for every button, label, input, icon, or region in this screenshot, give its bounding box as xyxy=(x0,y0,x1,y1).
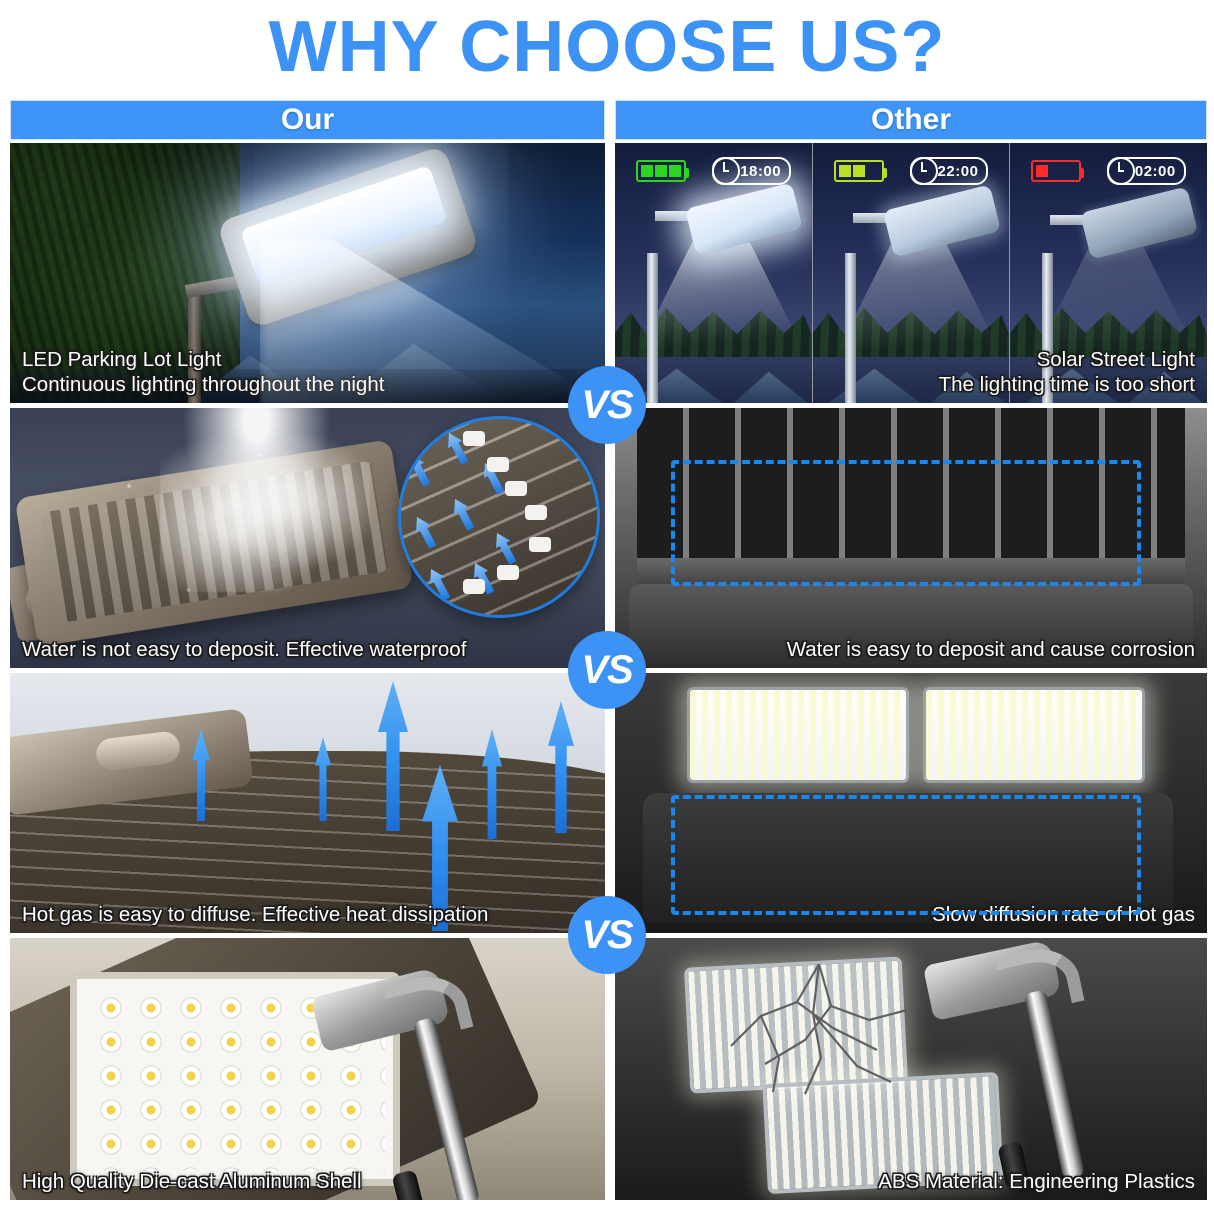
clock-dial-icon xyxy=(1107,157,1135,185)
vs-badge-3: VS xyxy=(568,896,646,974)
infographic-page: WHY CHOOSE US? Our Other LED Parking Lot… xyxy=(0,0,1214,1214)
panel-our-heat-dissipation: Hot gas is easy to diffuse. Effective he… xyxy=(10,673,605,933)
panel-other-slow-diffusion: Slow diffusion rate of hot gas xyxy=(615,673,1207,933)
caption-line-1: ABS Material: Engineering Plastics xyxy=(878,1170,1195,1193)
battery-icon-half xyxy=(834,160,884,182)
column-header-our: Our xyxy=(10,100,605,140)
caption-line-2: The lighting time is too short xyxy=(627,372,1195,397)
caption-line-1: Hot gas is easy to diffuse. Effective he… xyxy=(22,903,488,926)
clock-dial-icon xyxy=(910,157,938,185)
led-module-left xyxy=(687,687,909,783)
caption-other-corrosion: Water is easy to deposit and cause corro… xyxy=(615,637,1207,662)
time-label-1: 18:00 xyxy=(740,163,781,180)
page-title: WHY CHOOSE US? xyxy=(0,6,1214,88)
caption-line-1: LED Parking Lot Light xyxy=(22,348,221,371)
caption-line-1: High Quality Die-cast Aluminum Shell xyxy=(22,1170,362,1193)
panel-other-abs-plastic: ABS Material: Engineering Plastics xyxy=(615,938,1207,1200)
clock-dial-icon xyxy=(712,157,740,185)
clock-icon-time-3: 02:00 xyxy=(1107,157,1186,185)
caption-our-heat-dissipation: Hot gas is easy to diffuse. Effective he… xyxy=(10,902,605,927)
led-module-right xyxy=(923,687,1145,783)
panel-our-lighting-duration: LED Parking Lot Light Continuous lightin… xyxy=(10,143,605,403)
caption-line-1: Water is not easy to deposit. Effective … xyxy=(22,638,466,661)
clock-icon-time-2: 22:00 xyxy=(910,157,989,185)
status-group-2: 22:00 xyxy=(834,157,989,185)
column-header-our-label: Our xyxy=(281,103,334,137)
highlight-dashed-box xyxy=(671,460,1141,586)
caption-other-abs-plastic: ABS Material: Engineering Plastics xyxy=(615,1169,1207,1194)
column-header-other-label: Other xyxy=(871,103,951,137)
panel-our-waterproof: Water is not easy to deposit. Effective … xyxy=(10,408,605,668)
caption-line-1: Solar Street Light xyxy=(1037,348,1195,371)
vs-badge-1: VS xyxy=(568,366,646,444)
status-group-3: 02:00 xyxy=(1031,157,1186,185)
vs-badge-2: VS xyxy=(568,631,646,709)
hammer-handle xyxy=(1024,989,1085,1179)
hammer-tool xyxy=(271,958,605,1200)
highlight-dashed-box xyxy=(671,795,1141,915)
time-label-3: 02:00 xyxy=(1135,163,1176,180)
panel-our-aluminum-shell: High Quality Die-cast Aluminum Shell xyxy=(10,938,605,1200)
panel-other-lighting-duration: 18:00 22:00 02:00 xyxy=(615,143,1207,403)
crack-lines-icon xyxy=(701,954,941,1104)
waterproof-detail-callout xyxy=(398,416,600,618)
status-group-1: 18:00 xyxy=(636,157,791,185)
time-label-2: 22:00 xyxy=(938,163,979,180)
battery-icon-full xyxy=(636,160,686,182)
battery-status-row: 18:00 22:00 02:00 xyxy=(615,157,1207,185)
battery-icon-low xyxy=(1031,160,1081,182)
caption-our-aluminum-shell: High Quality Die-cast Aluminum Shell xyxy=(10,1169,605,1194)
column-header-other: Other xyxy=(615,100,1207,140)
clock-icon-time-1: 18:00 xyxy=(712,157,791,185)
caption-line-1: Water is easy to deposit and cause corro… xyxy=(787,638,1195,661)
panel-other-corrosion: Water is easy to deposit and cause corro… xyxy=(615,408,1207,668)
caption-our-waterproof: Water is not easy to deposit. Effective … xyxy=(10,637,605,662)
caption-other-lighting: Solar Street Light The lighting time is … xyxy=(615,347,1207,397)
